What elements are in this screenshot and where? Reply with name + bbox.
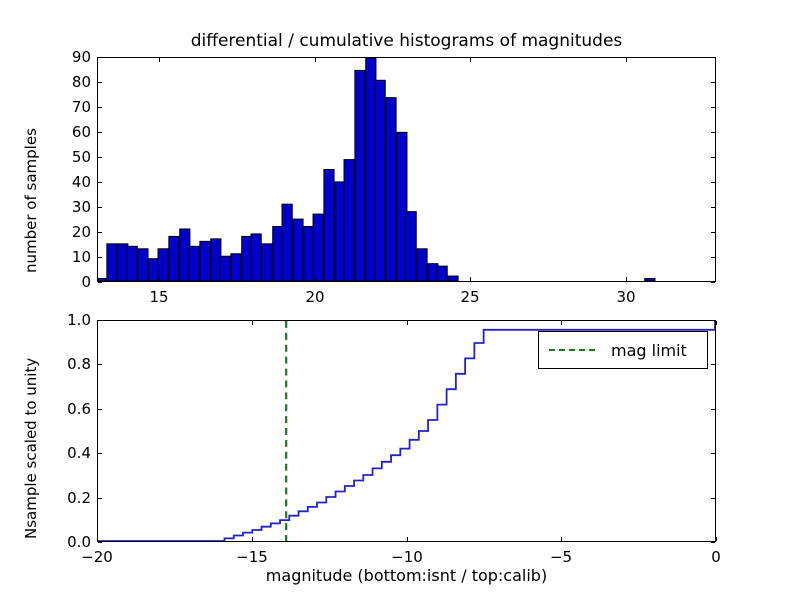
bottom-panel-ytick-mark-right	[711, 409, 715, 410]
histogram-bar	[273, 226, 283, 281]
bottom-panel-ytick-label: 1.0	[39, 311, 91, 329]
histogram-bar	[262, 244, 272, 281]
bottom-panel-ylabel: Nsample scaled to unity	[22, 358, 40, 539]
histogram-bar	[417, 249, 427, 281]
top-panel-ytick-label: 0	[45, 273, 91, 291]
bottom-panel-ytick-mark-right	[711, 453, 715, 454]
bottom-panel-ytick-mark	[98, 320, 102, 321]
bottom-panel-ytick-mark-right	[711, 542, 715, 543]
bottom-panel-xtick-mark	[716, 537, 717, 541]
bottom-panel-ytick-mark	[98, 542, 102, 543]
bottom-panel-ytick-label: 0.4	[39, 444, 91, 462]
bottom-panel-xlabel: magnitude (bottom:isnt / top:calib)	[97, 566, 716, 585]
histogram-bar	[200, 241, 210, 281]
top-panel-xtick-mark-top	[159, 58, 160, 62]
histogram-bar	[138, 249, 148, 281]
top-panel-xtick-mark	[159, 277, 160, 281]
histogram-bar	[127, 246, 137, 281]
bottom-panel-ytick-label: 0.8	[39, 355, 91, 373]
histogram-bar	[189, 246, 199, 281]
histogram-bar	[149, 259, 159, 281]
bottom-panel-xtick-mark	[561, 537, 562, 541]
bottom-panel-ytick-mark	[98, 409, 102, 410]
bottom-panel-ytick-mark-right	[711, 364, 715, 365]
top-panel-ytick-mark-right	[711, 232, 715, 233]
top-panel-ytick-label: 30	[45, 198, 91, 216]
histogram-bar	[428, 264, 438, 281]
bottom-panel-ytick-mark-right	[711, 498, 715, 499]
top-panel-ylabel: number of samples	[22, 128, 40, 273]
top-panel-ytick-mark	[98, 257, 102, 258]
histogram-bar	[324, 170, 334, 282]
top-panel-ytick-mark	[98, 157, 102, 158]
histogram-bar	[397, 132, 407, 281]
histogram-bar	[355, 70, 365, 281]
bottom-panel-ytick-label: 0.2	[39, 489, 91, 507]
mag-limit-line-swatch-icon	[549, 349, 595, 351]
top-panel-ytick-mark-right	[711, 182, 715, 183]
top-panel-ytick-label: 90	[45, 48, 91, 66]
legend-label-mag-limit: mag limit	[611, 341, 687, 360]
top-panel-xtick-mark	[315, 277, 316, 281]
top-panel-xtick-label: 30	[616, 288, 635, 306]
top-panel-ytick-mark	[98, 232, 102, 233]
histogram-bar	[293, 219, 303, 281]
chart-title: differential / cumulative histograms of …	[97, 30, 716, 52]
histogram-bar	[251, 234, 261, 281]
top-panel-ytick-mark	[98, 207, 102, 208]
histogram-bar	[448, 276, 458, 281]
bottom-panel-ytick-label: 0.6	[39, 400, 91, 418]
top-panel-ytick-mark-right	[711, 132, 715, 133]
top-panel-ytick-mark-right	[711, 257, 715, 258]
bottom-panel-xtick-label: −5	[550, 548, 572, 566]
bottom-panel-xtick-mark-top	[716, 321, 717, 325]
top-panel-ytick-mark	[98, 182, 102, 183]
histogram-bar	[375, 80, 385, 281]
top-panel-xtick-label: 15	[149, 288, 168, 306]
histogram-bar	[304, 226, 314, 281]
differential-histogram-svg	[98, 58, 715, 281]
histogram-bars	[98, 58, 655, 281]
top-panel-axes	[97, 57, 716, 282]
top-panel-ytick-mark	[98, 57, 102, 58]
bottom-panel-xtick-label: −20	[81, 548, 113, 566]
top-panel-ytick-mark	[98, 282, 102, 283]
top-panel-ytick-mark-right	[711, 107, 715, 108]
top-panel-ytick-mark-right	[711, 157, 715, 158]
histogram-bar	[180, 229, 190, 281]
bottom-panel-xtick-mark-top	[561, 321, 562, 325]
bottom-panel-ytick-mark-right	[711, 320, 715, 321]
bottom-panel-xtick-label: −10	[391, 548, 423, 566]
top-panel-xtick-label: 25	[460, 288, 479, 306]
top-panel-xtick-mark-top	[470, 58, 471, 62]
top-panel-ytick-mark	[98, 107, 102, 108]
legend[interactable]: mag limit	[538, 331, 708, 369]
top-panel-xtick-mark-top	[315, 58, 316, 62]
bottom-panel-ytick-mark	[98, 498, 102, 499]
histogram-bar	[335, 182, 345, 281]
bottom-panel-ytick-mark	[98, 364, 102, 365]
histogram-bar	[313, 214, 323, 281]
histogram-bar	[282, 204, 292, 281]
top-panel-ytick-label: 70	[45, 98, 91, 116]
top-panel-xtick-mark-top	[626, 58, 627, 62]
histogram-bar	[344, 160, 354, 281]
top-panel-xtick-mark	[470, 277, 471, 281]
top-panel-xtick-label: 20	[305, 288, 324, 306]
top-panel-ytick-mark	[98, 82, 102, 83]
top-panel-ytick-mark	[98, 132, 102, 133]
bottom-panel-xtick-label: 0	[711, 548, 721, 566]
histogram-bar	[118, 244, 128, 281]
histogram-bar	[386, 98, 396, 281]
top-panel-plot-area	[98, 58, 715, 281]
top-panel-xtick-mark	[626, 277, 627, 281]
histogram-bar	[211, 239, 221, 281]
histogram-bar	[242, 236, 252, 281]
bottom-panel-xtick-mark-top	[97, 321, 98, 325]
top-panel-ytick-mark-right	[711, 282, 715, 283]
histogram-bar	[107, 244, 117, 281]
histogram-bar	[169, 236, 179, 281]
top-panel-ytick-mark-right	[711, 82, 715, 83]
top-panel-ytick-label: 40	[45, 173, 91, 191]
figure-canvas: differential / cumulative histograms of …	[0, 0, 800, 600]
top-panel-ytick-label: 50	[45, 148, 91, 166]
bottom-panel-xtick-label: −15	[236, 548, 268, 566]
top-panel-ytick-mark-right	[711, 207, 715, 208]
bottom-panel-xtick-mark-top	[252, 321, 253, 325]
top-panel-ytick-label: 60	[45, 123, 91, 141]
histogram-bar	[231, 254, 241, 281]
bottom-panel-xtick-mark-top	[407, 321, 408, 325]
histogram-bar	[366, 58, 376, 281]
top-panel-ytick-mark-right	[711, 57, 715, 58]
histogram-bar	[406, 212, 416, 281]
histogram-bar	[437, 266, 447, 281]
bottom-panel-ytick-mark	[98, 453, 102, 454]
bottom-panel-xtick-mark	[252, 537, 253, 541]
histogram-bar	[645, 279, 655, 281]
histogram-bar	[220, 256, 230, 281]
top-panel-ytick-label: 10	[45, 248, 91, 266]
top-panel-ytick-label: 20	[45, 223, 91, 241]
top-panel-ytick-label: 80	[45, 73, 91, 91]
bottom-panel-xtick-mark	[407, 537, 408, 541]
bottom-panel-xtick-mark	[97, 537, 98, 541]
histogram-bar	[98, 279, 106, 281]
